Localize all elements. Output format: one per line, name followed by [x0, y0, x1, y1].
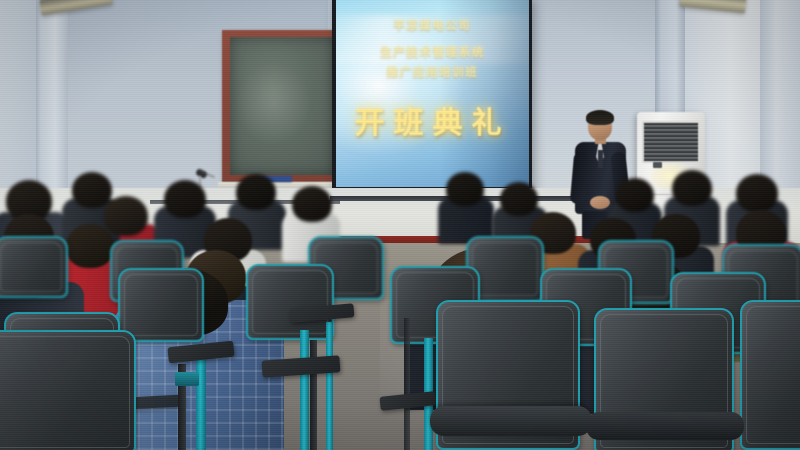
blackboard-surface — [230, 37, 336, 175]
slide-course-line: 推广应用培训班 — [387, 64, 479, 80]
seat-cushion[interactable] — [586, 412, 744, 440]
seat-piping — [0, 336, 130, 448]
seat-support-post — [326, 322, 333, 450]
auditorium-seat[interactable] — [740, 300, 800, 450]
slide-main-title: 开班典礼 — [355, 98, 511, 142]
slide-content: 平凉煤电公司 生产技术管理系统 推广应用培训班 开班典礼 — [336, 0, 529, 187]
seat-back[interactable] — [740, 300, 800, 450]
presenter-hair — [586, 110, 614, 125]
seat-piping — [472, 242, 538, 296]
seat-piping — [252, 270, 328, 334]
attendee-head — [72, 172, 112, 208]
attendee-head — [164, 180, 206, 218]
photo-canvas: 平凉煤电公司 生产技术管理系统 推广应用培训班 开班典礼 — [0, 0, 800, 450]
seat-back[interactable] — [0, 330, 136, 450]
seat-leg — [404, 318, 410, 450]
seat-support-post — [196, 348, 206, 450]
attendee-head — [672, 170, 712, 206]
attendee-head — [292, 186, 332, 222]
presenter-tie — [598, 150, 603, 168]
presenter-hands — [590, 196, 610, 209]
seat-piping — [746, 306, 800, 444]
seat-piping — [0, 242, 62, 292]
seat-back[interactable] — [246, 264, 334, 340]
projection-screen: 平凉煤电公司 生产技术管理系统 推广应用培训班 开班典礼 — [332, 0, 532, 192]
auditorium-seat[interactable] — [0, 236, 68, 298]
attendee-head — [236, 174, 276, 210]
attendee-head — [500, 182, 538, 216]
air-conditioner-grille-icon — [642, 121, 700, 163]
slide-system-line: 生产技术管理系统 — [380, 44, 485, 60]
seat-bracket — [175, 372, 199, 386]
attendee-head — [66, 224, 114, 268]
seat-support-post — [300, 330, 309, 450]
attendee-head — [104, 196, 148, 236]
auditorium-seat[interactable] — [246, 264, 334, 340]
auditorium-seat[interactable] — [0, 330, 136, 450]
projection-screen-surface: 平凉煤电公司 生产技术管理系统 推广应用培训班 开班典礼 — [336, 0, 529, 187]
seat-back[interactable] — [0, 236, 68, 298]
seat-piping — [124, 274, 198, 336]
slide-company-line: 平凉煤电公司 — [394, 17, 472, 33]
attendee-head — [736, 174, 778, 212]
air-conditioner-control-panel — [653, 162, 662, 168]
attendee-head — [446, 172, 484, 206]
seat-cushion[interactable] — [430, 406, 592, 436]
blackboard — [222, 30, 344, 182]
attendee-head — [616, 178, 654, 212]
